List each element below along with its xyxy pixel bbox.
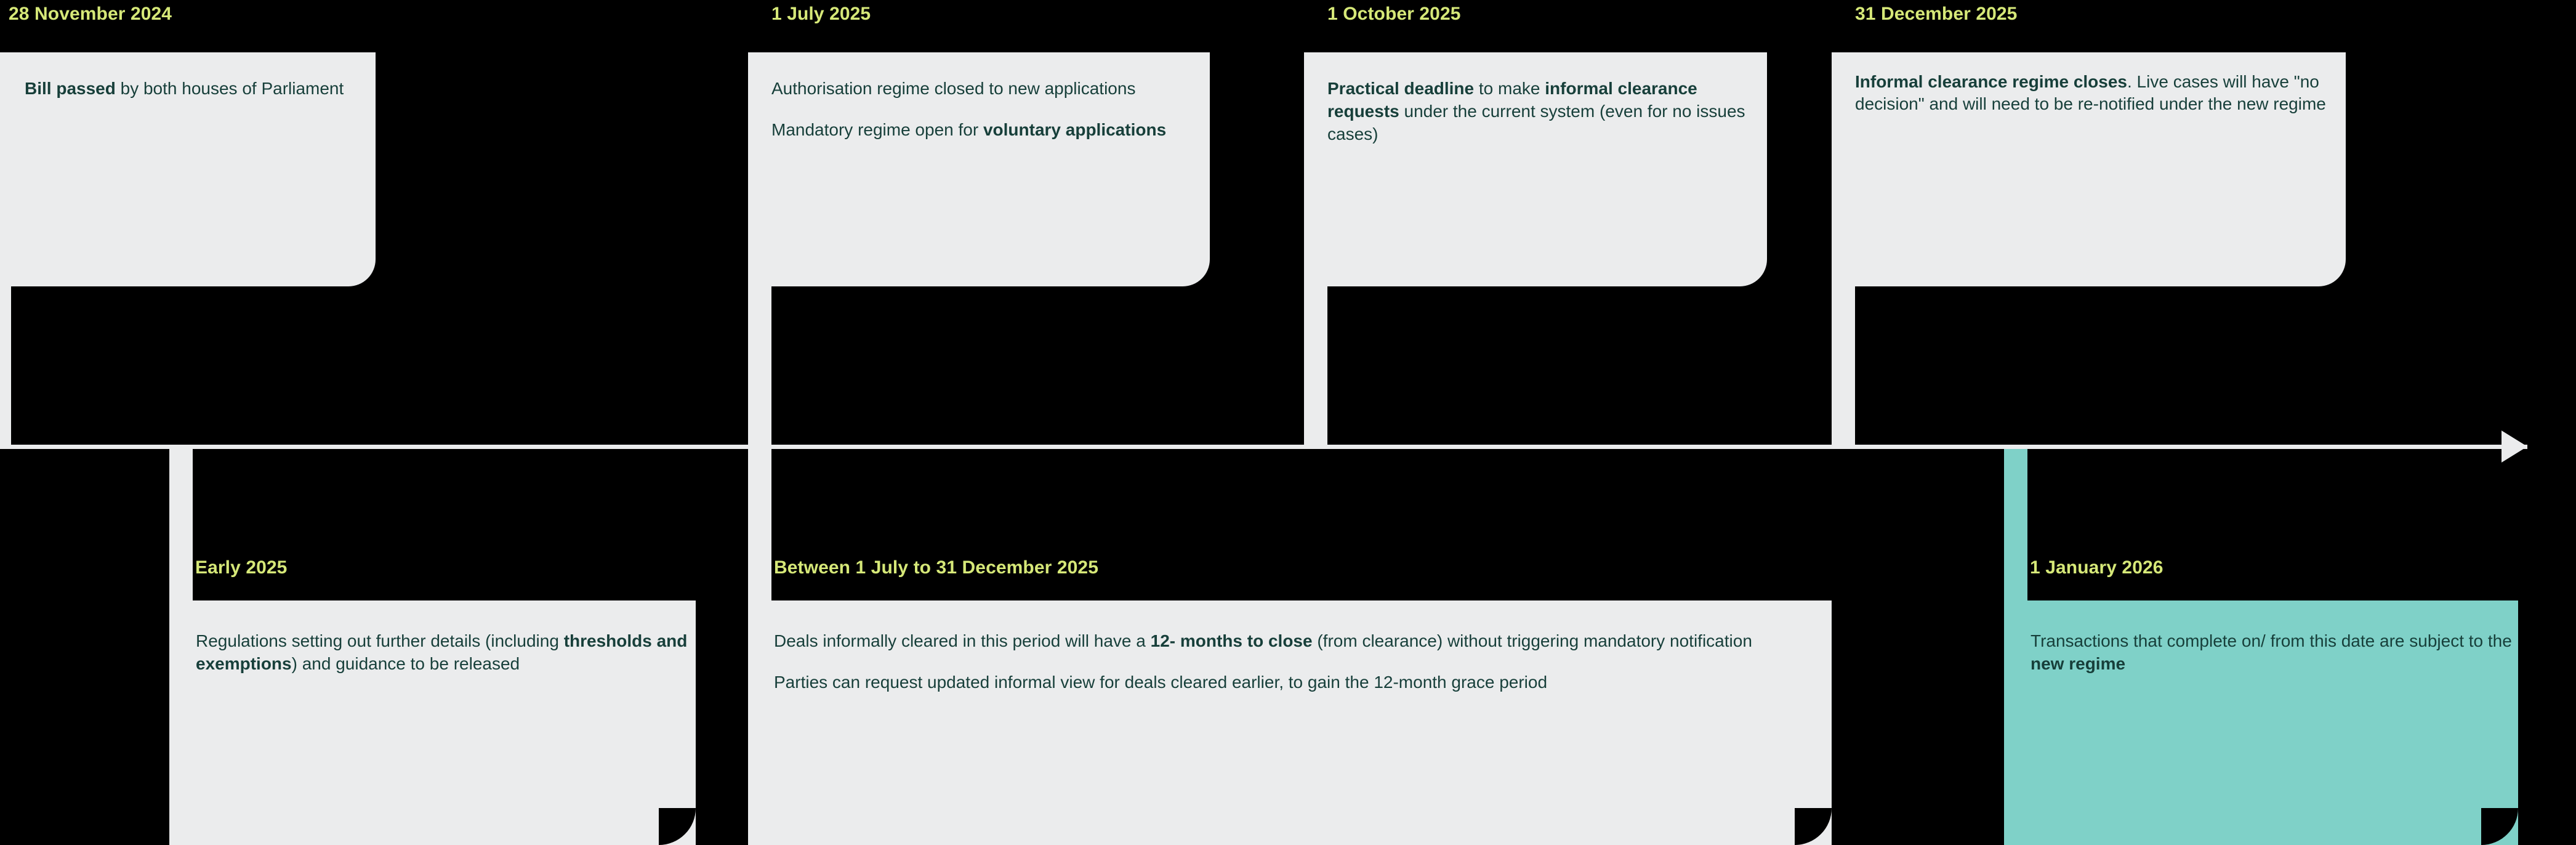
event-text-strong: 12- months to close — [1151, 631, 1313, 650]
event-text-plain: ) and guidance to be released — [292, 654, 520, 673]
event-stem-grace-period — [748, 449, 771, 610]
event-stem-authorisation-closed — [748, 286, 771, 449]
event-text-new-regime: Transactions that complete on/ from this… — [2031, 629, 2517, 675]
event-date-practical-deadline: 1 October 2025 — [1327, 4, 1461, 25]
event-date-bill-passed: 28 November 2024 — [9, 4, 172, 25]
event-stem-practical-deadline — [1304, 286, 1327, 449]
event-text-strong: new regime — [2031, 654, 2125, 673]
event-stem-bill-passed — [0, 286, 11, 449]
event-text-plain: Authorisation regime closed to new appli… — [771, 79, 1135, 98]
event-stem-early-2025 — [169, 449, 193, 610]
event-text-plain: Mandatory regime open for — [771, 120, 983, 139]
event-text-plain: Transactions that complete on/ from this… — [2031, 631, 2512, 650]
event-stem-fillet-early-2025 — [193, 449, 274, 525]
timeline-arrow-icon — [2502, 431, 2527, 463]
event-text-bill-passed: Bill passed by both houses of Parliament — [25, 77, 357, 100]
timeline-diagram: 28 November 2024 Bill passed by both hou… — [0, 0, 2576, 845]
event-stem-fillet-grace-period — [771, 449, 853, 525]
event-text-practical-deadline: Practical deadline to make informal clea… — [1327, 77, 1752, 146]
event-stem-fillet-bill-passed — [11, 376, 85, 445]
event-text-informal-regime-closes: Informal clearance regime closes. Live c… — [1855, 71, 2348, 115]
event-stem-fillet-authorisation-closed — [771, 376, 845, 445]
event-date-authorisation-closed: 1 July 2025 — [771, 4, 871, 25]
event-text-plain: Regulations setting out further details … — [196, 631, 564, 650]
event-date-early-2025: Early 2025 — [195, 557, 287, 578]
event-text-grace-period: Deals informally cleared in this period … — [774, 629, 1821, 693]
event-text-plain: Parties can request updated informal vie… — [774, 673, 1547, 692]
timeline-axis-line — [0, 445, 2527, 449]
event-text-authorisation-closed: Authorisation regime closed to new appli… — [771, 77, 1184, 141]
event-stem-fillet-practical-deadline — [1327, 376, 1401, 445]
event-date-grace-period: Between 1 July to 31 December 2025 — [774, 557, 1098, 578]
event-text-early-2025: Regulations setting out further details … — [196, 629, 688, 675]
event-stem-fillet-informal-regime-closes — [1855, 376, 1929, 445]
event-text-plain: (from clearance) without triggering mand… — [1313, 631, 1752, 650]
event-stem-informal-regime-closes — [1832, 286, 1855, 449]
event-date-new-regime: 1 January 2026 — [2030, 557, 2163, 578]
event-text-strong: Bill passed — [25, 79, 116, 98]
event-text-strong: Informal clearance regime closes — [1855, 72, 2127, 91]
event-text-strong: Practical deadline — [1327, 79, 1474, 98]
event-text-plain: to make — [1474, 79, 1545, 98]
event-date-informal-regime-closes: 31 December 2025 — [1855, 4, 2017, 25]
event-text-strong: voluntary applications — [983, 120, 1166, 139]
event-stem-fillet-new-regime — [2027, 449, 2109, 525]
event-text-plain: Deals informally cleared in this period … — [774, 631, 1151, 650]
event-text-plain: by both houses of Parliament — [116, 79, 344, 98]
event-stem-new-regime — [2004, 449, 2027, 610]
